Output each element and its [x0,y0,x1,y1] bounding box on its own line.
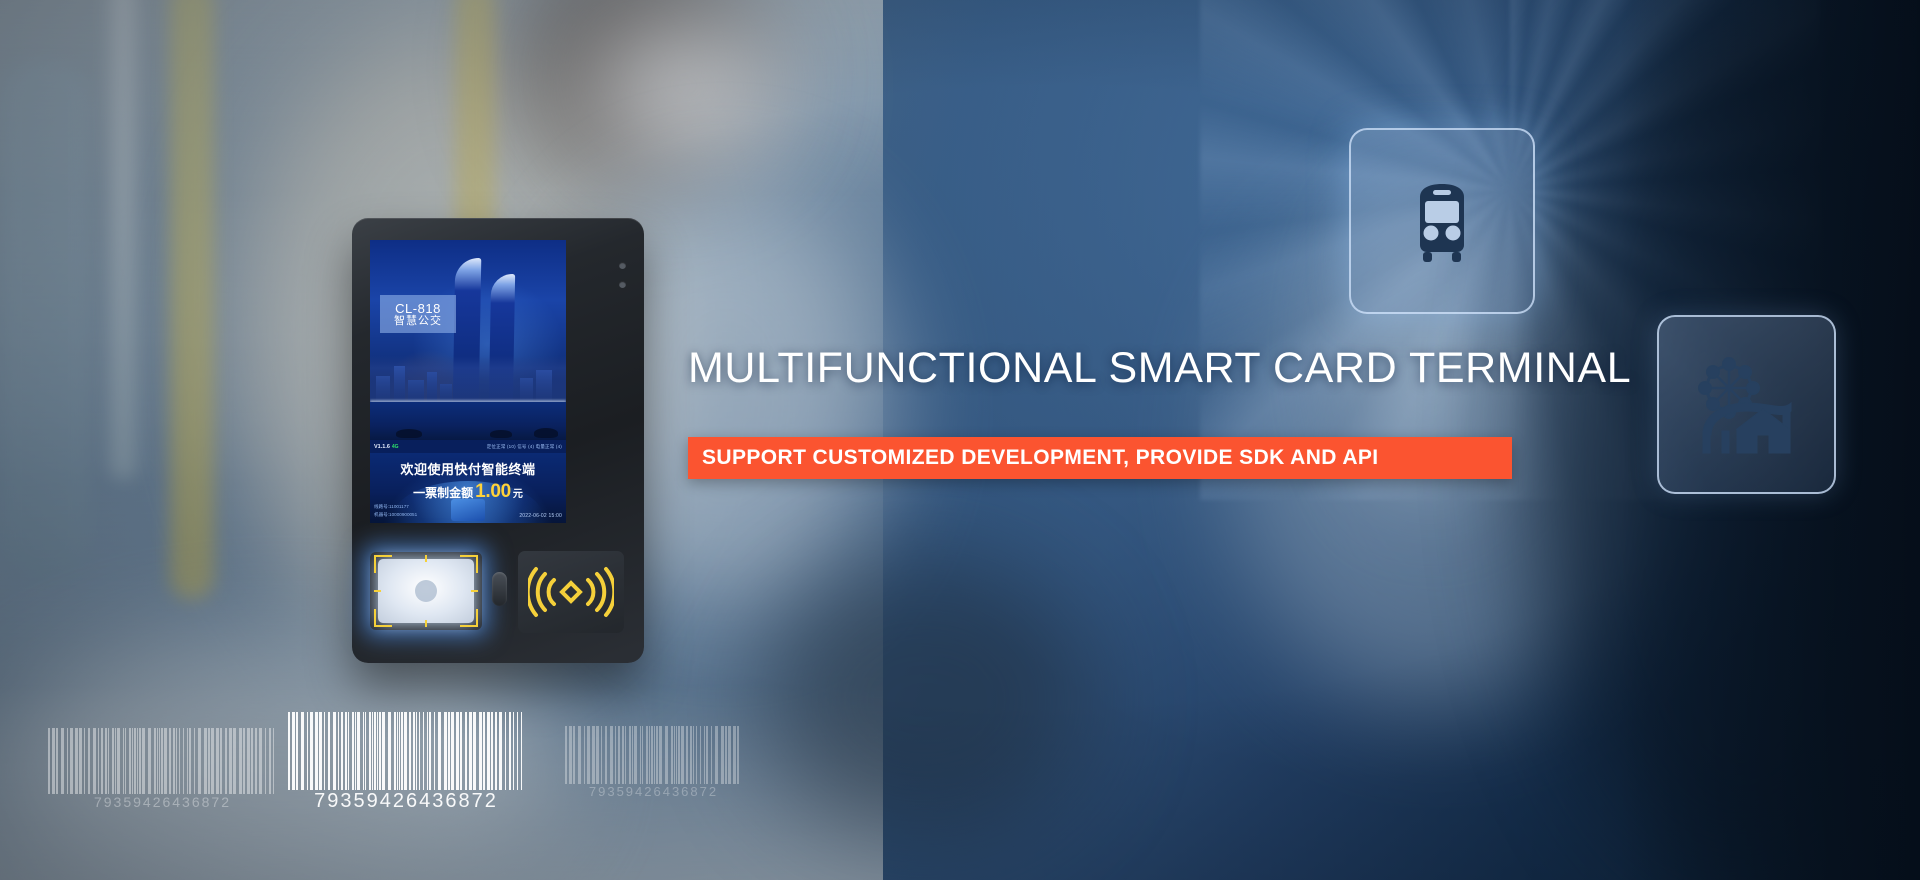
barcode-bar [265,728,266,794]
barcode-bar [70,728,73,794]
barcode-bar [596,726,599,784]
barcode-bar [584,726,585,784]
promo-banner: CL-818 智慧公交 V1.1.6 4G 定位正常 (10) 信号 (4) 电… [0,0,1920,880]
barcode-bar [315,712,318,790]
barcode-bar [397,712,398,790]
barcode-bar [737,726,739,784]
barcode-bar [233,728,236,794]
barcode-bar [194,728,195,794]
barcode-bar [681,726,684,784]
barcode-center: 79359426436872 [288,712,524,813]
barcode-bar [189,728,191,794]
barcode-bar [301,712,304,790]
barcode-bar [379,712,381,790]
barcode-bar [52,728,55,794]
barcode-bar [487,712,490,790]
barcode-bar [129,728,131,794]
barcode-bar [75,728,78,794]
device-screen[interactable]: CL-818 智慧公交 V1.1.6 4G 定位正常 (10) 信号 (4) 电… [370,240,566,523]
sensor-dot-1 [619,262,626,269]
barcode-bar [273,728,274,794]
welcome-text: 欢迎使用快付智能终端 [370,459,566,478]
device-sensor-dots [619,262,626,288]
barcode-bar [229,728,232,794]
barcode-bar [419,712,420,790]
barcode-bar [640,726,641,784]
scan-corner-br-icon [460,609,478,627]
barcode-bar [220,728,222,794]
device-reader-panel [352,536,644,663]
barcode-bar [247,728,250,794]
barcode-bar [169,728,171,794]
model-number: CL-818 [395,302,441,315]
barcode-bar [338,712,339,790]
screen-meta: 线路号:11001177 机器号:10000900051 [374,503,417,520]
barcode-bar [427,712,428,790]
barcode-bar [473,712,476,790]
fare-amount: 1.00 [475,481,511,502]
scan-corner-tl-icon [374,555,392,573]
smart-card-terminal-device: CL-818 智慧公交 V1.1.6 4G 定位正常 (10) 信号 (4) 电… [352,218,644,663]
barcode-bar [715,726,718,784]
barcode-bar [625,726,626,784]
barcode-bar [292,712,295,790]
page-title: MULTIFUNCTIONAL SMART CARD TERMINAL [688,344,1631,393]
barcode-bar [154,728,156,794]
barcode-bar [509,712,511,790]
barcode-bar [686,726,688,784]
barcode-bar [665,726,668,784]
barcode-bar [569,726,572,784]
barcode-bar [307,712,308,790]
barcode-bar [409,712,411,790]
barcode-bar [416,712,417,790]
nfc-waves-icon [528,564,614,620]
barcode-bar [48,728,50,794]
barcode-bar [117,728,120,794]
barcode-bar [605,726,607,784]
barcode-bar [448,712,450,790]
barcode-bar [491,712,493,790]
barcode-bar [610,726,613,784]
fare-line: 一票制金额1.00元 [370,481,566,503]
barcode-bar [721,726,724,784]
barcode-bar [690,726,692,784]
screen-fare-panel: 欢迎使用快付智能终端 一票制金额1.00元 线路号:11001177 机器号:1… [370,453,566,523]
barcode-bar [243,728,245,794]
barcode-bar [369,712,371,790]
barcode-bar [565,726,567,784]
barcode-bar [656,726,658,784]
barcode-bars [288,712,524,790]
screen-status-bar: V1.1.6 4G 定位正常 (10) 信号 (4) 电量正常 (4) [370,440,566,453]
barcode-bar [105,728,107,794]
barcode-bar [137,728,138,794]
barcode-bar [101,728,103,794]
barcode-bar [288,712,290,790]
barcode-bar [148,728,151,794]
barcode-bar [204,728,207,794]
barcode-bar [208,728,210,794]
barcode-bar [629,726,631,784]
barcode-bar [521,712,522,790]
barcode-bar [84,728,85,794]
barcode-bar [357,712,360,790]
barcode-bar [216,728,219,794]
amusement-park-glyph-icon [1691,351,1803,459]
barcode-bar [674,726,675,784]
subtitle-banner: SUPPORT CUSTOMIZED DEVELOPMENT, PROVIDE … [688,437,1512,479]
barcode-bar [345,712,347,790]
barcode-bar [363,712,364,790]
machine-number: 机器号:10000900051 [374,511,417,520]
barcode-bar [434,712,435,790]
barcode-bars [565,726,742,784]
shore-rock [490,430,512,438]
barcode-bar [700,726,701,784]
barcode-bar [404,712,407,790]
barcode-bar [696,726,697,784]
barcode-bar [211,728,214,794]
barcode-bar [649,726,650,784]
device-model-badge: CL-818 智慧公交 [380,295,456,333]
barcode-bar [401,712,403,790]
scanner-lens [415,580,437,602]
barcode-bar [423,712,424,790]
barcode-bar [651,726,653,784]
barcode-bar [618,726,620,784]
firmware-version: V1.1.6 [374,444,390,450]
screen-advert-photo: CL-818 智慧公交 [370,240,566,440]
barcode-bar [725,726,727,784]
barcode-bar [161,728,163,794]
barcode-bar [176,728,177,794]
barcode-bar [517,712,518,790]
barcode-bar [108,728,109,794]
barcode-bar [225,728,227,794]
barcode-bar [341,712,343,790]
barcode-bar [123,728,124,794]
barcode-bar [132,728,133,794]
barcode-bar [93,728,96,794]
barcode-bar [79,728,82,794]
barcode-bar [479,712,482,790]
barcode-bar [578,726,581,784]
barcode-bar [654,726,655,784]
scan-corner-tr-icon [460,555,478,573]
barcode-bar [646,726,648,784]
barcode-bar [601,726,602,784]
barcode-bar [328,712,330,790]
barcode-bar [134,728,136,794]
barcode-bar [61,728,64,794]
barcode-bar [377,712,378,790]
barcode-bar [704,726,705,784]
barcode-bar [456,712,459,790]
barcode-bar [438,712,441,790]
barcode-bar [469,712,472,790]
barcode-bar [513,712,514,790]
barcode-bar [465,712,467,790]
barcode-bar [592,726,595,784]
barcode-bar [352,712,354,790]
barcode-bar [296,712,298,790]
barcode-bar [444,712,447,790]
barcode-bar [319,712,322,790]
scan-tick-top-icon [425,555,427,562]
barcode-bar [460,712,462,790]
barcode-bar [388,712,391,790]
scan-tick-bottom-icon [425,620,427,627]
barcode-bar [255,728,257,794]
barcode-bar [671,726,673,784]
barcode-bar [659,726,662,784]
bus-glyph-icon [1390,169,1494,273]
barcode-number: 79359426436872 [314,790,498,813]
barcode-bar [125,728,126,794]
barcode-number: 79359426436872 [94,794,231,810]
barcode-bar [239,728,242,794]
fare-unit: 元 [513,489,523,500]
scan-tick-left-icon [374,590,381,592]
qr-scan-window-icon[interactable] [370,552,482,630]
barcode-bar [573,726,575,784]
barcode-bar [372,712,373,790]
barcode-bar [139,728,141,794]
scan-tick-right-icon [471,590,478,592]
barcode-bar [615,726,616,784]
barcode-right: 79359426436872 [565,726,742,799]
barcode-bars [48,728,277,794]
fare-label: 一票制金额 [413,486,473,500]
barcode-bar [198,728,201,794]
network-indicator: 4G [392,444,399,450]
barcode-bar [355,712,356,790]
barcode-bar [678,726,680,784]
barcode-bar [251,728,253,794]
barcode-bar [365,712,366,790]
barcode-bar [112,728,114,794]
shore-rock [396,429,422,438]
barcode-bar [333,712,336,790]
barcode-bar [157,728,158,794]
barcode-bar [733,726,736,784]
sensor-dot-2 [619,281,626,288]
barcode-bar [173,728,175,794]
barcode-bar [706,726,708,784]
barcode-bar [310,712,313,790]
barcode-bar [183,728,184,794]
barcode-number: 79359426436872 [589,784,718,799]
barcode-bar [505,712,506,790]
barcode-bar [429,712,431,790]
barcode-bar [374,712,376,790]
barcode-bar [159,728,160,794]
barcode-bar [348,712,349,790]
skyline-haze [370,356,566,404]
barcode-bar [88,728,90,794]
barcode-bar [632,726,633,784]
bus-icon [1349,128,1535,314]
barcode-left: 79359426436872 [48,728,277,810]
model-subtitle: 智慧公交 [394,316,442,327]
nfc-contactless-icon[interactable] [518,551,624,633]
barcode-bar [495,712,497,790]
barcode-bar [269,728,271,794]
barcode-bar [587,726,590,784]
scan-corner-bl-icon [374,609,392,627]
barcode-bar [693,726,694,784]
barcode-bar [499,712,502,790]
barcode-bar [324,712,325,790]
barcode-bar [67,728,68,794]
barcode-bar [98,728,99,794]
barcode-bar [399,712,400,790]
barcode-bar [142,728,145,794]
barcode-bar [187,728,188,794]
subtitle-text: SUPPORT CUSTOMIZED DEVELOPMENT, PROVIDE … [702,446,1379,470]
amusement-park-icon [1657,315,1836,494]
barcode-bar [451,712,454,790]
barcode-bar [642,726,643,784]
barcode-bar [622,726,624,784]
barcode-bar [56,728,58,794]
barcode-bar [164,728,167,794]
barcode-bar [634,726,637,784]
barcode-bar [711,726,712,784]
status-right-info: 定位正常 (10) 信号 (4) 电量正常 (4) [487,444,562,450]
barcode-bar [483,712,485,790]
barcode-bar [115,728,116,794]
device-scroll-wheel[interactable] [492,572,507,606]
barcode-bar [259,728,262,794]
barcode-bar [728,726,731,784]
barcode-bar [394,712,396,790]
barcode-bar [179,728,180,794]
barcode-bar [413,712,415,790]
barcode-bar [382,712,385,790]
screen-timestamp: 2022-06-02 15:00 [519,513,562,519]
line-number: 线路号:11001177 [374,503,417,512]
barcode-bar [676,726,677,784]
shore-rock [534,428,558,438]
